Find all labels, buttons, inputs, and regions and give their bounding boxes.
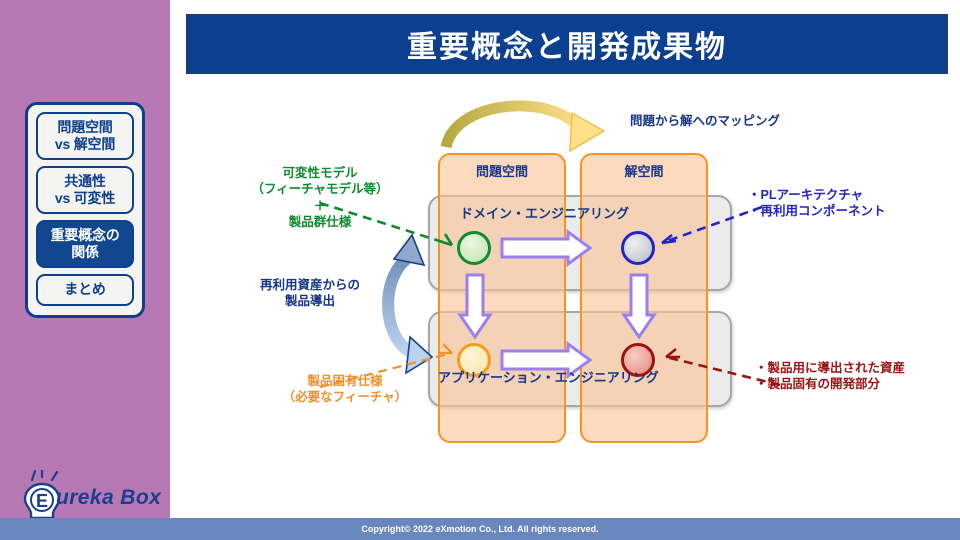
logo-wordmark: ureka Box — [56, 486, 161, 510]
sidebar-item-problem-vs-solution[interactable]: 問題空間vs 解空間 — [36, 112, 134, 160]
label-application-engineering: アプリケーション・エンジニアリング — [438, 367, 659, 386]
arrow-domain-to-application-left — [460, 275, 490, 337]
note-problem-to-solution-mapping: 問題から解へのマッピング — [630, 113, 780, 129]
connector-pl-architecture — [662, 207, 762, 243]
node-domain-problem — [457, 231, 491, 265]
arrow-reuse-curve — [388, 235, 432, 373]
node-domain-solution — [621, 231, 655, 265]
sidebar: 問題空間vs 解空間 共通性vs 可変性 重要概念の関係 まとめ — [0, 0, 170, 540]
copyright-text: Copyright© 2022 eXmotion Co., Ltd. All r… — [361, 524, 598, 534]
label-domain-engineering: ドメイン・エンジニアリング — [460, 203, 629, 222]
sidebar-item-key-concept-relations[interactable]: 重要概念の関係 — [36, 220, 134, 268]
arrow-problem-to-solution-top — [502, 232, 590, 264]
page-title: 重要概念と開発成果物 — [407, 22, 727, 66]
note-product-specific-spec: 製品固有仕様（必要なフィーチャ） — [270, 373, 420, 406]
sidebar-item-commonality-vs-variability[interactable]: 共通性vs 可変性 — [36, 166, 134, 214]
logo-initial-letter: E — [36, 491, 48, 511]
slide-root: 問題空間vs 解空間 共通性vs 可変性 重要概念の関係 まとめ — [0, 0, 960, 540]
note-derived-assets: ・製品用に導出された資産・製品固有の開発部分 — [755, 360, 905, 393]
note-pl-architecture: ・PLアーキテクチャ・再利用コンポーネント — [748, 187, 886, 220]
note-reuse-derivation: 再利用資産からの製品導出 — [230, 277, 390, 310]
concept-diagram: 問題空間 解空間 — [180, 85, 960, 515]
sidebar-item-summary[interactable]: まとめ — [36, 274, 134, 306]
sidebar-nav-panel: 問題空間vs 解空間 共通性vs 可変性 重要概念の関係 まとめ — [25, 102, 145, 318]
note-variability-model: 可変性モデル（フィーチャモデル等）＋製品群仕様 — [240, 165, 400, 230]
slide-title-bar: 重要概念と開発成果物 — [186, 14, 948, 74]
arrow-domain-to-application-right — [624, 275, 654, 337]
footer-bar: Copyright© 2022 eXmotion Co., Ltd. All r… — [0, 518, 960, 540]
arrow-mapping-curve — [446, 106, 604, 151]
